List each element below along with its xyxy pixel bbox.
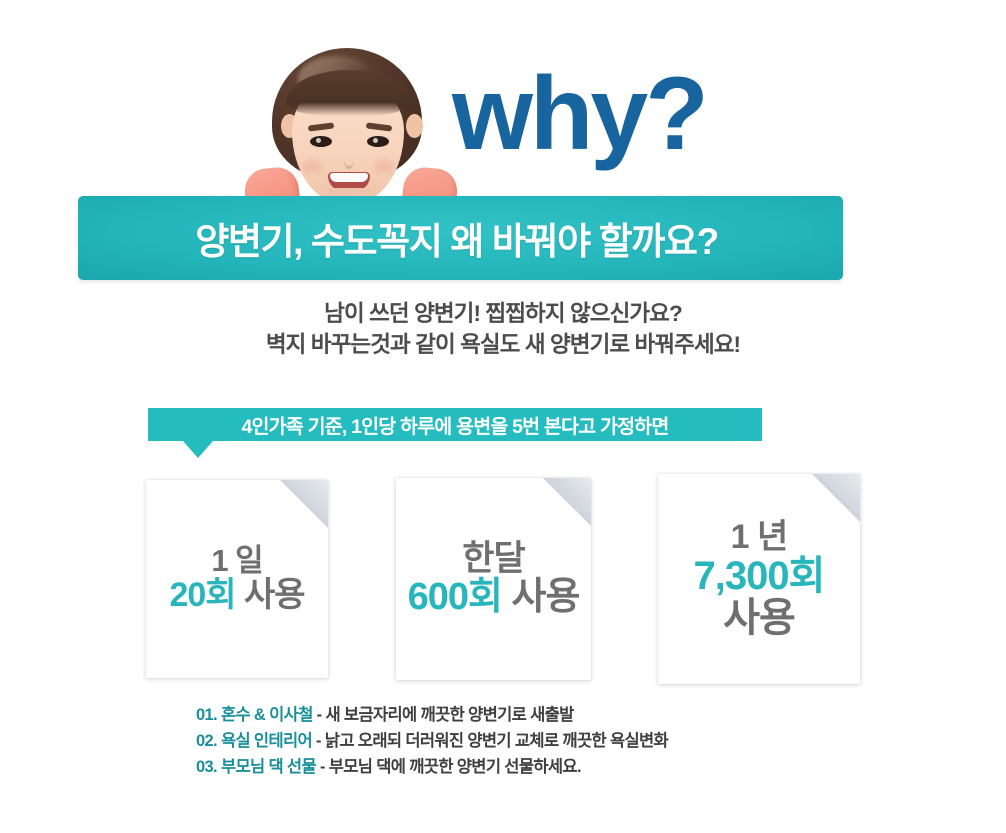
- benefit-list-item: 01. 혼수 & 이사철 - 새 보금자리에 깨끗한 양변기로 새출발: [196, 702, 896, 728]
- woman-cheek-right: [374, 160, 394, 172]
- usage-card-line-1: 1 년: [694, 519, 825, 555]
- benefit-description: 새 보금자리에 깨끗한 양변기로 새출발: [325, 706, 573, 724]
- usage-card-per-year: 1 년 7,300회 사용: [658, 474, 860, 684]
- benefit-dash: -: [316, 732, 321, 750]
- assumption-ribbon-text: 4인가족 기준, 1인당 하루에 용변을 5번 본다고 가정하면: [241, 410, 668, 439]
- ribbon-pointer-triangle-icon: [183, 441, 213, 458]
- usage-card-text: 1 일 20회 사용: [169, 545, 304, 614]
- subtitle-block: 남이 쓰던 양변기! 찝찝하지 않으신가요? 벽지 바꾸는것과 같이 욕실도 새…: [0, 298, 1006, 360]
- usage-card-unit: 사용: [236, 576, 305, 614]
- usage-card-text: 한달 600회 사용: [408, 540, 580, 617]
- usage-card-count: 20회: [169, 576, 235, 614]
- headline-banner: 양변기, 수도꼭지 왜 바꿔야 할까요?: [78, 196, 843, 280]
- usage-cards: 1 일 20회 사용 한달 600회 사용 1 년 7,300회 사용: [146, 474, 860, 690]
- woman-nose: [344, 152, 354, 169]
- benefit-title: 욕실 인테리어: [221, 732, 312, 750]
- benefit-number: 01.: [196, 706, 217, 724]
- benefit-description: 부모님 댁에 깨끗한 양변기 선물하세요.: [329, 758, 581, 776]
- usage-card-unit: 사용: [502, 576, 579, 618]
- woman-eye-right: [367, 136, 389, 147]
- benefit-dash: -: [317, 706, 322, 724]
- benefit-list-item: 02. 욕실 인테리어 - 낡고 오래되 더러워진 양변기 교체로 깨끗한 욕실…: [196, 728, 896, 754]
- usage-card-count: 600회: [408, 576, 502, 618]
- benefit-list-item: 03. 부모님 댁 선물 - 부모님 댁에 깨끗한 양변기 선물하세요.: [196, 754, 896, 780]
- subtitle-line-1: 남이 쓰던 양변기! 찝찝하지 않으신가요?: [0, 298, 1006, 329]
- assumption-ribbon: 4인가족 기준, 1인당 하루에 용변을 5번 본다고 가정하면: [148, 408, 762, 441]
- woman-eye-left: [310, 136, 332, 147]
- usage-card-text: 1 년 7,300회 사용: [694, 519, 825, 640]
- usage-card-line-2: 600회 사용: [408, 577, 580, 617]
- why-headline: why?: [452, 62, 706, 166]
- benefit-description: 낡고 오래되 더러워진 양변기 교체로 깨끗한 욕실변화: [325, 732, 668, 750]
- page-fold-corner-icon: [543, 478, 591, 526]
- usage-card-line-1: 1 일: [169, 545, 304, 578]
- benefit-number: 02.: [196, 732, 217, 750]
- usage-card-per-day: 1 일 20회 사용: [146, 480, 328, 678]
- usage-card-line-3: 사용: [694, 597, 825, 639]
- woman-cheek-left: [302, 160, 322, 172]
- usage-card-per-month: 한달 600회 사용: [396, 478, 591, 680]
- usage-card-line-2: 20회 사용: [169, 577, 304, 613]
- headline-banner-text: 양변기, 수도꼭지 왜 바꿔야 할까요?: [195, 211, 718, 265]
- page-fold-corner-icon: [280, 480, 328, 528]
- woman-teeth: [330, 173, 368, 182]
- benefit-title: 혼수 & 이사철: [221, 706, 313, 724]
- subtitle-line-2: 벽지 바꾸는것과 같이 욕실도 새 양변기로 바꿔주세요!: [0, 329, 1006, 360]
- woman-ear-right: [406, 114, 423, 138]
- benefit-title: 부모님 댁 선물: [221, 758, 316, 776]
- page-fold-corner-icon: [812, 474, 860, 522]
- benefit-number: 03.: [196, 758, 217, 776]
- benefit-dash: -: [320, 758, 325, 776]
- usage-card-count: 7,300회: [694, 555, 825, 597]
- promo-page: why? 양변기, 수도꼭지 왜 바꿔야 할까요? 남이 쓰던 양변기! 찝찝하…: [0, 0, 1006, 833]
- benefit-list: 01. 혼수 & 이사철 - 새 보금자리에 깨끗한 양변기로 새출발 02. …: [196, 702, 896, 780]
- usage-card-line-1: 한달: [408, 540, 580, 577]
